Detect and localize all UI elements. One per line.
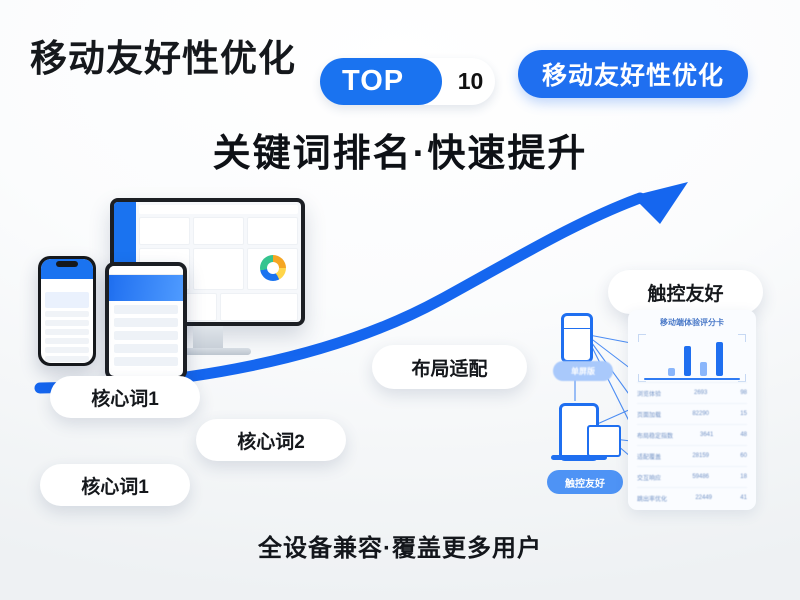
tablet-mockup [105, 262, 187, 380]
phone-list-item [45, 338, 89, 344]
phone-list-item [45, 347, 89, 353]
phone-list-item [45, 356, 89, 362]
score-row: 布局稳定指数 3641 48 [637, 424, 747, 445]
score-row-label: 页面加载 [637, 410, 661, 419]
score-row-label: 浏览体验 [637, 389, 661, 398]
phone-notch [56, 261, 78, 267]
score-row-label: 布局稳定指数 [637, 431, 673, 440]
score-row-value: 59486 [692, 474, 709, 480]
layout-adaptation-pill[interactable]: 布局适配 [372, 345, 527, 389]
score-row-extra: 60 [740, 453, 747, 459]
keyword-pill-3[interactable]: 核心词1 [40, 464, 190, 506]
phone-list-item [45, 320, 89, 326]
top-badge-label: TOP [342, 65, 404, 98]
diagram-tag-top: 单屏版 [553, 361, 613, 381]
tablet-list-item [114, 344, 178, 353]
tablet-list-item [114, 331, 178, 340]
score-row-value: 82290 [692, 411, 709, 417]
score-row-value: 28159 [692, 453, 709, 459]
donut-chart-icon [260, 255, 286, 281]
phone-search-bar [46, 282, 88, 289]
keyword-pill-2[interactable]: 核心词2 [196, 419, 346, 461]
score-row: 跳出率优化 22449 41 [637, 487, 747, 508]
donut-chart-card [247, 248, 298, 290]
diagram-tag-bottom: 触控友好 [547, 470, 623, 494]
score-row-extra: 41 [740, 495, 747, 501]
footer-tagline: 全设备兼容·覆盖更多用户 [0, 528, 800, 563]
score-card: 移动端体验评分卡 浏览体验 2693 98 页面加载 82290 1 [628, 310, 756, 510]
page-title: 移动友好性优化 [30, 28, 296, 82]
tablet-banner [109, 275, 183, 301]
score-row: 适配覆盖 28159 60 [637, 445, 747, 466]
score-row: 交互响应 59486 18 [637, 466, 747, 487]
tablet-list-item [114, 305, 178, 314]
score-row-value: 22449 [695, 495, 712, 501]
score-row-label: 交互响应 [637, 473, 661, 482]
score-card-title: 移动端体验评分卡 [628, 317, 756, 328]
diagram-phone-top [561, 313, 593, 363]
top-badge-rank: 10 [450, 61, 491, 102]
dashboard-card [139, 217, 190, 245]
score-card-chart [638, 334, 746, 382]
keyword-pill-1[interactable]: 核心词1 [50, 376, 200, 418]
poster-canvas: 移动友好性优化 TOP 10 移动友好性优化 关键词排名·快速提升 [0, 0, 800, 600]
dashboard-card [247, 217, 298, 245]
score-row-extra: 98 [740, 390, 747, 396]
phone-mockup [38, 256, 96, 366]
diagram-laptop-icon [587, 425, 621, 457]
header-tag-pill: 移动友好性优化 [518, 50, 748, 98]
device-network-diagram: 单屏版 触控友好 移动端体验评分卡 浏览体验 2693 98 [545, 305, 760, 515]
dashboard-card [193, 248, 244, 290]
dashboard-card [220, 293, 298, 321]
phone-promo-card [45, 292, 89, 308]
tablet-list-item [114, 357, 178, 366]
score-row-extra: 18 [740, 474, 747, 480]
top-rank-badge: TOP 10 [320, 58, 495, 105]
monitor-neck [193, 326, 223, 348]
score-row-extra: 15 [740, 411, 747, 417]
phone-list-item [45, 329, 89, 335]
score-row-value: 2693 [694, 390, 707, 396]
dashboard-topbar [139, 205, 298, 214]
score-row-extra: 48 [740, 432, 747, 438]
score-row-label: 跳出率优化 [637, 494, 667, 503]
diagram-stand [551, 455, 607, 460]
phone-list-item [45, 311, 89, 317]
tablet-list-item [114, 318, 178, 327]
tablet-header [109, 266, 183, 275]
dashboard-card [193, 217, 244, 245]
score-row: 浏览体验 2693 98 [637, 382, 747, 403]
score-row-label: 适配覆盖 [637, 452, 661, 461]
score-row-value: 3641 [700, 432, 713, 438]
score-row: 页面加载 82290 15 [637, 403, 747, 424]
